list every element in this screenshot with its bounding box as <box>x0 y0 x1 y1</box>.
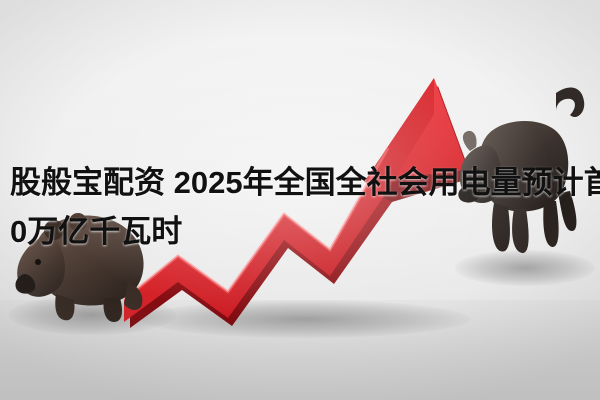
headline-line-2: 0万亿千瓦时 <box>10 207 590 256</box>
image-canvas: 股般宝配资 2025年全国全社会用电量预计首超1 0万亿千瓦时 <box>0 0 600 400</box>
headline-line-1: 股般宝配资 2025年全国全社会用电量预计首超1 <box>10 158 590 207</box>
headline-overlay: 股般宝配资 2025年全国全社会用电量预计首超1 0万亿千瓦时 <box>10 158 590 256</box>
